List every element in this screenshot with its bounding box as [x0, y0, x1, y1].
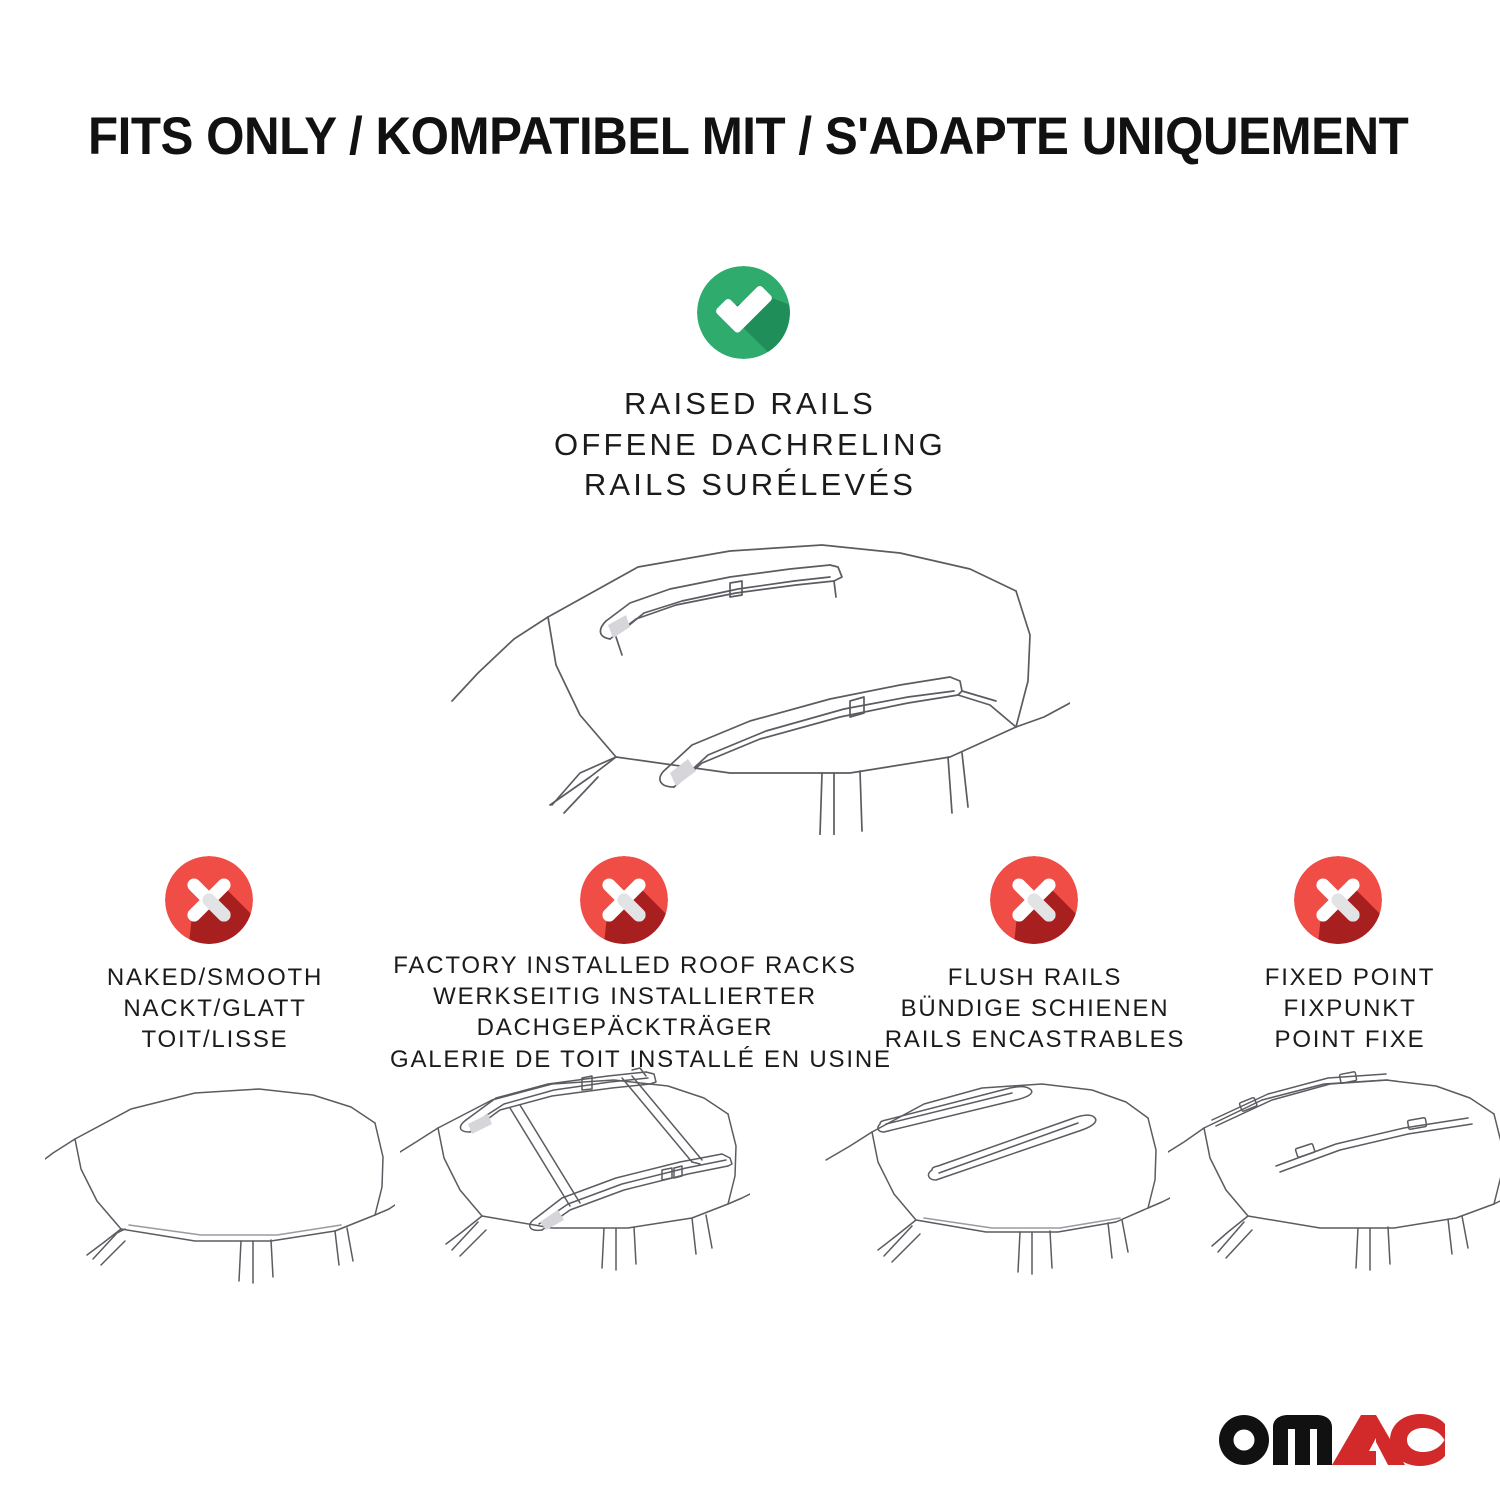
- compatible-label: RAISED RAILS OFFENE DACHRELING RAILS SUR…: [400, 384, 1100, 506]
- incompatible-label-flush-rails: FLUSH RAILS BÜNDIGE SCHIENEN RAILS ENCAS…: [855, 962, 1215, 1056]
- label-line-1: FIXED POINT: [1205, 962, 1495, 993]
- car-roof-raised-rails-illustration: [430, 505, 1070, 835]
- label-line-1: FLUSH RAILS: [855, 962, 1215, 993]
- label-line-1: NAKED/SMOOTH: [20, 962, 410, 993]
- label-line-3: POINT FIXE: [1205, 1024, 1495, 1055]
- car-roof-fixed-points-illustration: [1168, 1062, 1500, 1309]
- red-x-circle-icon-flush-rails: [990, 856, 1078, 944]
- label-line-3: RAILS ENCASTRABLES: [855, 1024, 1215, 1055]
- red-x-circle-icon-fixed-point: [1294, 856, 1382, 944]
- compatible-label-line-1: RAISED RAILS: [400, 384, 1100, 425]
- red-x-circle-icon-factory-racks: [580, 856, 668, 944]
- omac-logo: OMAC: [1213, 1402, 1445, 1468]
- page-title: FITS ONLY / KOMPATIBEL MIT / S'ADAPTE UN…: [88, 106, 1325, 167]
- car-roof-factory-crossbars-illustration: [400, 1058, 750, 1308]
- red-x-circle-icon-naked-smooth: [165, 856, 253, 944]
- label-line-2: WERKSEITIG INSTALLIERTER: [390, 981, 860, 1012]
- compatible-label-line-3: RAILS SURÉLEVÉS: [400, 465, 1100, 506]
- label-line-2: NACKT/GLATT: [20, 993, 410, 1024]
- car-roof-naked-smooth-illustration: [45, 1065, 395, 1310]
- incompatible-label-factory-racks: FACTORY INSTALLED ROOF RACKS WERKSEITIG …: [390, 950, 860, 1075]
- green-check-circle-icon: [697, 266, 790, 359]
- compatible-label-line-2: OFFENE DACHRELING: [400, 425, 1100, 466]
- incompatible-label-fixed-point: FIXED POINT FIXPUNKT POINT FIXE: [1205, 962, 1495, 1056]
- label-line-3: TOIT/LISSE: [20, 1024, 410, 1055]
- label-line-3: DACHGEPÄCKTRÄGER: [390, 1012, 860, 1043]
- label-line-2: FIXPUNKT: [1205, 993, 1495, 1024]
- label-line-2: BÜNDIGE SCHIENEN: [855, 993, 1215, 1024]
- incompatible-label-naked-smooth: NAKED/SMOOTH NACKT/GLATT TOIT/LISSE: [20, 962, 410, 1056]
- car-roof-flush-rails-illustration: [820, 1062, 1170, 1309]
- omac-logo-text: OMAC: [1445, 1402, 1446, 1403]
- label-line-1: FACTORY INSTALLED ROOF RACKS: [390, 950, 860, 981]
